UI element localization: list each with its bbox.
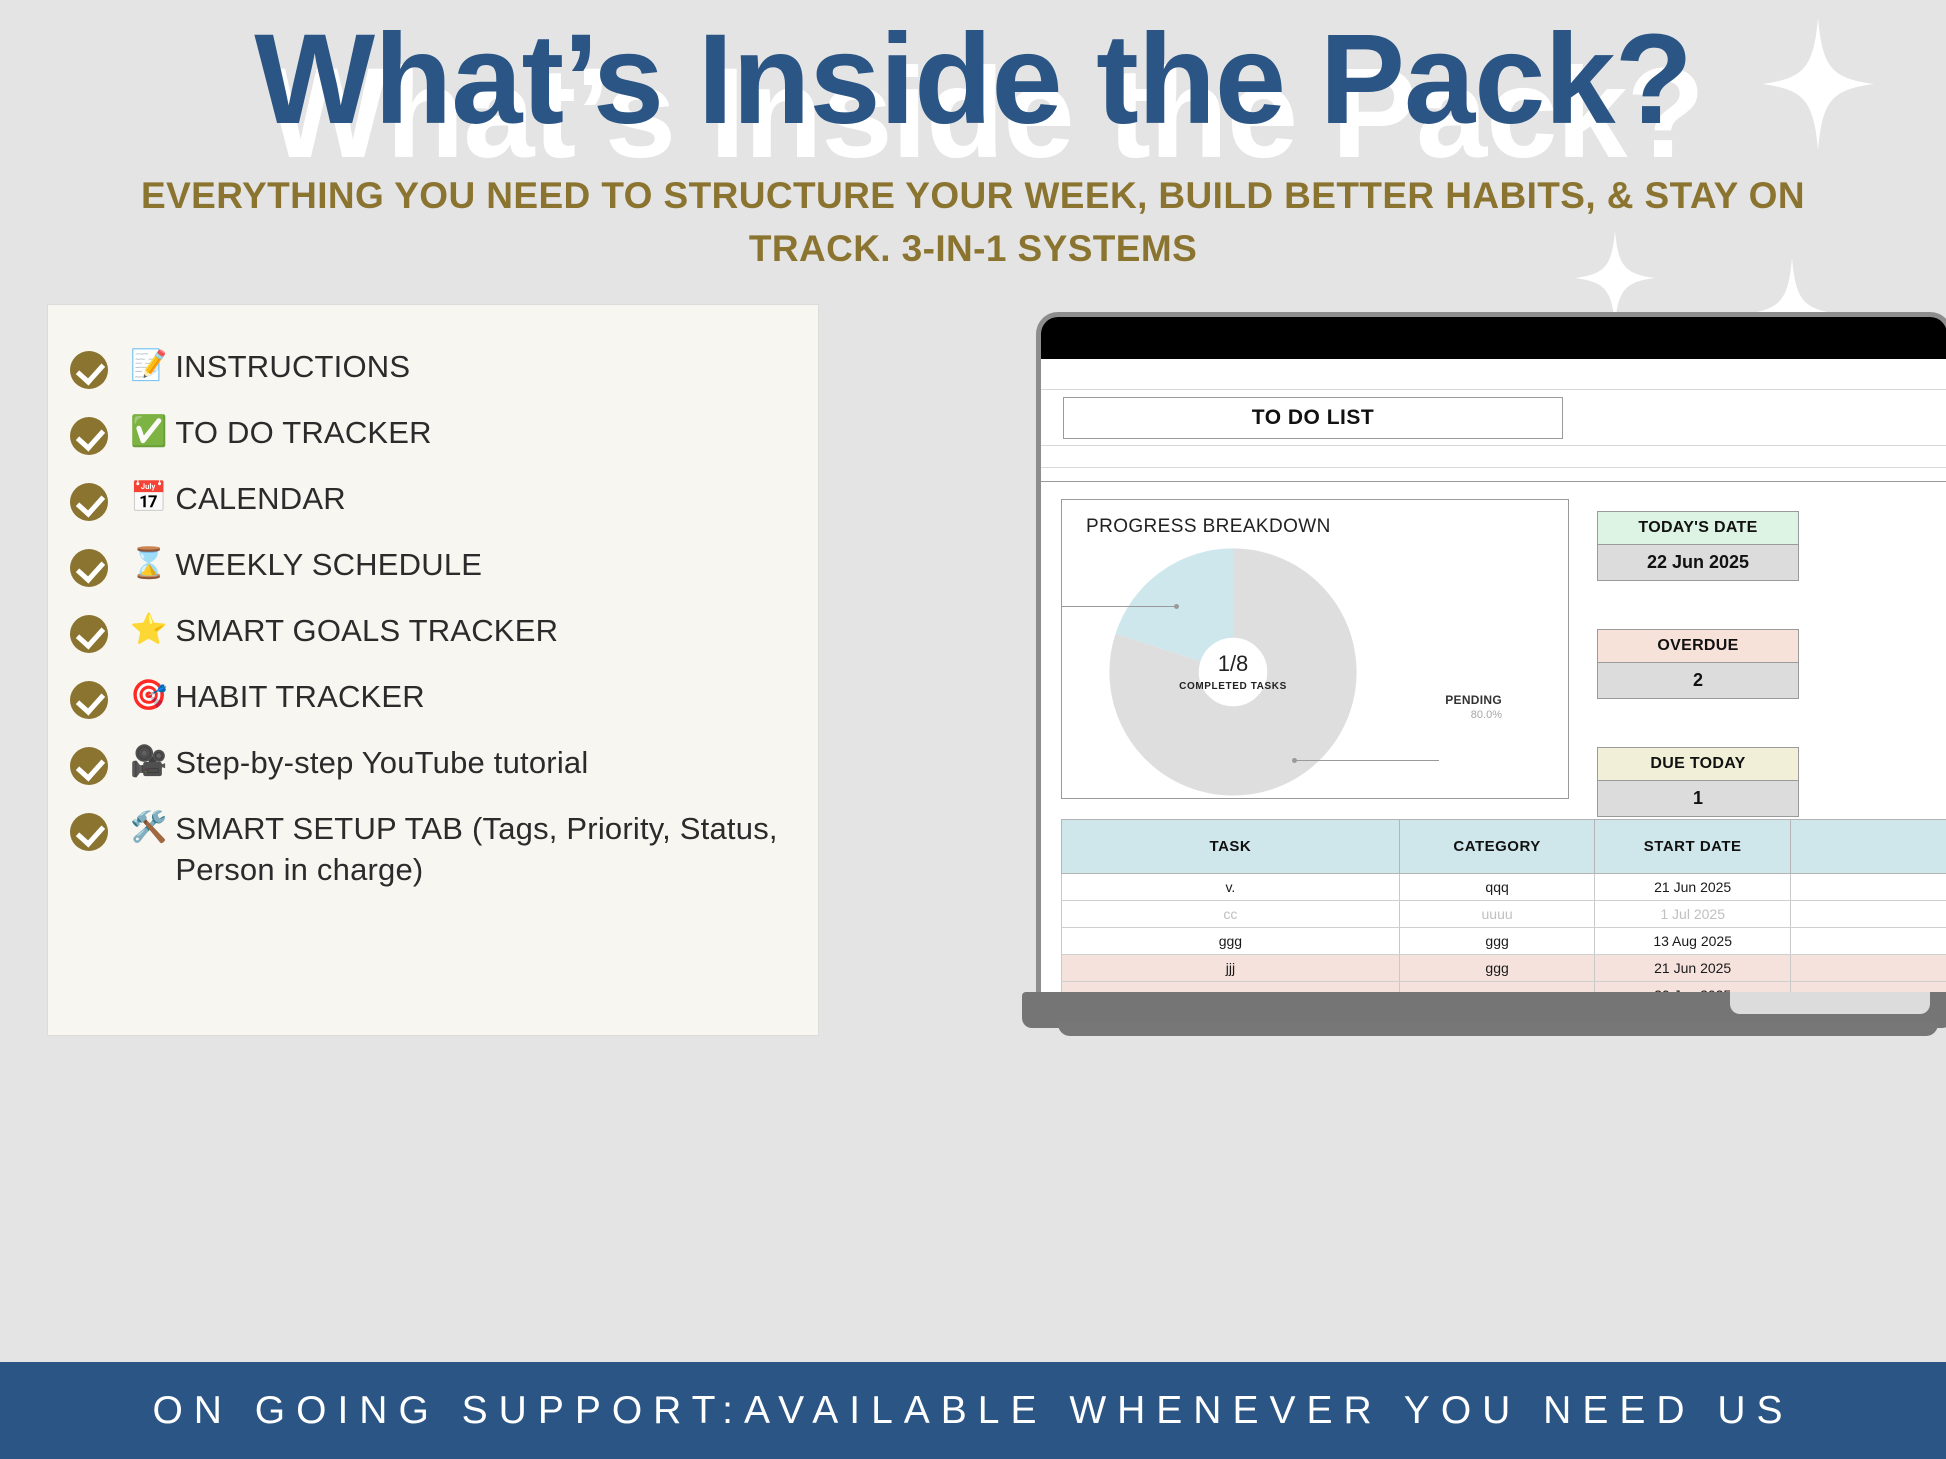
table-cell-task[interactable]: ggg xyxy=(1062,928,1400,955)
feature-item: ⌛WEEKLY SCHEDULE xyxy=(70,545,818,587)
grid-line xyxy=(1036,481,1946,482)
laptop-mockup: TO DO LIST PROGRESS BREAKDOWN 1/8 xyxy=(1022,312,1946,1042)
memo-icon: 📝 xyxy=(130,347,167,385)
grid-line xyxy=(1036,389,1946,390)
kpi-card-todays-date: TODAY'S DATE 22 Jun 2025 xyxy=(1597,511,1799,581)
table-body: v.qqq21 Jun 2025ccuuuu1 Jul 2025gggggg13… xyxy=(1062,874,1946,995)
page-title: What’s Inside the Pack? xyxy=(0,0,1946,144)
feature-item: 🎯HABIT TRACKER xyxy=(70,677,818,719)
table-header-row: TASKCATEGORYSTART DATE xyxy=(1062,820,1946,874)
chart-title: PROGRESS BREAKDOWN xyxy=(1086,516,1331,538)
feature-item: ✅TO DO TRACKER xyxy=(70,413,818,455)
sheet-title: TO DO LIST xyxy=(1252,406,1374,430)
task-table: TASKCATEGORYSTART DATE v.qqq21 Jun 2025c… xyxy=(1061,819,1946,994)
check-circle-icon xyxy=(70,813,108,851)
check-circle-icon xyxy=(70,681,108,719)
laptop-screen: TO DO LIST PROGRESS BREAKDOWN 1/8 xyxy=(1036,359,1946,994)
table-cell-extra[interactable] xyxy=(1790,901,1946,928)
table-cell-extra[interactable] xyxy=(1790,874,1946,901)
laptop-foot xyxy=(1058,1022,1938,1036)
table-column-header[interactable]: TASK xyxy=(1062,820,1400,874)
pending-percent: 80.0% xyxy=(1392,709,1502,721)
laptop-lid: TO DO LIST PROGRESS BREAKDOWN 1/8 xyxy=(1036,312,1946,994)
table-column-header[interactable]: START DATE xyxy=(1595,820,1791,874)
table-cell-task[interactable]: jjj xyxy=(1062,955,1400,982)
table-cell-task[interactable]: v. xyxy=(1062,874,1400,901)
sheet-title-cell[interactable]: TO DO LIST xyxy=(1063,397,1563,439)
kpi-card-due-today: DUE TODAY 1 xyxy=(1597,747,1799,817)
feature-item-label: INSTRUCTIONS xyxy=(175,347,410,388)
header: What’s Inside the Pack? EVERYTHING YOU N… xyxy=(0,0,1946,275)
feature-item-label: HABIT TRACKER xyxy=(175,677,425,718)
kpi-card-overdue: OVERDUE 2 xyxy=(1597,629,1799,699)
grid-line xyxy=(1036,467,1946,468)
table-cell-start[interactable]: 21 Jun 2025 xyxy=(1595,874,1791,901)
table-cell-category[interactable]: uuuu xyxy=(1399,901,1595,928)
laptop-base-notch xyxy=(1730,992,1930,1014)
check-circle-icon xyxy=(70,483,108,521)
check-circle-icon xyxy=(70,615,108,653)
direct-hit-icon: 🎯 xyxy=(130,677,167,715)
table-cell-start[interactable]: 21 Jun 2025 xyxy=(1595,955,1791,982)
check-mark-button-icon: ✅ xyxy=(130,413,167,451)
callout-dot-completed xyxy=(1174,604,1179,609)
kpi-label: OVERDUE xyxy=(1597,629,1799,663)
callout-dot-pending xyxy=(1292,758,1297,763)
table-cell-category[interactable]: qqq xyxy=(1399,874,1595,901)
feature-item-label: Step-by-step YouTube tutorial xyxy=(175,743,588,784)
table-cell-extra[interactable] xyxy=(1790,955,1946,982)
progress-chart-panel: PROGRESS BREAKDOWN 1/8 COMPLETED TASKS xyxy=(1061,499,1569,799)
table-cell-task[interactable]: cc xyxy=(1062,901,1400,928)
kpi-value: 2 xyxy=(1597,663,1799,699)
feature-item-label: TO DO TRACKER xyxy=(175,413,431,454)
table-row[interactable]: jjjggg21 Jun 2025 xyxy=(1062,955,1946,982)
callout-line-completed xyxy=(1062,606,1177,607)
kpi-value: 22 Jun 2025 xyxy=(1597,545,1799,581)
calendar-icon: 📅 xyxy=(130,479,167,517)
donut-segment-completed xyxy=(1154,593,1312,751)
movie-camera-icon: 🎥 xyxy=(130,743,167,781)
pending-callout-label: PENDING 80.0% xyxy=(1392,693,1502,721)
table-cell-category[interactable]: ggg xyxy=(1399,928,1595,955)
page-subtitle: EVERYTHING YOU NEED TO STRUCTURE YOUR WE… xyxy=(0,170,1946,275)
table-row[interactable]: v.qqq21 Jun 2025 xyxy=(1062,874,1946,901)
kpi-label: DUE TODAY xyxy=(1597,747,1799,781)
donut-svg xyxy=(1108,548,1358,796)
feature-item-label: SMART SETUP TAB (Tags, Priority, Status,… xyxy=(175,809,804,891)
spreadsheet: TO DO LIST PROGRESS BREAKDOWN 1/8 xyxy=(1036,359,1946,994)
hourglass-icon: ⌛ xyxy=(130,545,167,583)
feature-item: ⭐SMART GOALS TRACKER xyxy=(70,611,818,653)
hammer-and-wrench-icon: 🛠️ xyxy=(130,809,167,847)
footer-text: ON GOING SUPPORT:AVAILABLE WHENEVER YOU … xyxy=(152,1389,1793,1433)
feature-item-label: CALENDAR xyxy=(175,479,345,520)
table-cell-category[interactable]: ggg xyxy=(1399,955,1595,982)
check-circle-icon xyxy=(70,417,108,455)
kpi-label: TODAY'S DATE xyxy=(1597,511,1799,545)
pending-name: PENDING xyxy=(1392,693,1502,707)
check-circle-icon xyxy=(70,351,108,389)
kpi-value: 1 xyxy=(1597,781,1799,817)
table-cell-extra[interactable] xyxy=(1790,928,1946,955)
table-cell-start[interactable]: 13 Aug 2025 xyxy=(1595,928,1791,955)
feature-item: 🎥Step-by-step YouTube tutorial xyxy=(70,743,818,785)
table-column-header[interactable] xyxy=(1790,820,1946,874)
table-cell-start[interactable]: 1 Jul 2025 xyxy=(1595,901,1791,928)
feature-list: 📝INSTRUCTIONS✅TO DO TRACKER📅CALENDAR⌛WEE… xyxy=(48,305,818,891)
feature-item: 🛠️SMART SETUP TAB (Tags, Priority, Statu… xyxy=(70,809,818,891)
table-row[interactable]: gggggg13 Aug 2025 xyxy=(1062,928,1946,955)
table-column-header[interactable]: CATEGORY xyxy=(1399,820,1595,874)
feature-item: 📅CALENDAR xyxy=(70,479,818,521)
feature-card: 📝INSTRUCTIONS✅TO DO TRACKER📅CALENDAR⌛WEE… xyxy=(48,305,818,1035)
check-circle-icon xyxy=(70,747,108,785)
feature-item: 📝INSTRUCTIONS xyxy=(70,347,818,389)
check-circle-icon xyxy=(70,549,108,587)
callout-line-pending xyxy=(1294,760,1439,761)
feature-item-label: WEEKLY SCHEDULE xyxy=(175,545,482,586)
feature-item-label: SMART GOALS TRACKER xyxy=(175,611,558,652)
star-icon: ⭐ xyxy=(130,611,167,649)
progress-donut-chart: 1/8 COMPLETED TASKS xyxy=(1108,548,1358,796)
footer-banner: ON GOING SUPPORT:AVAILABLE WHENEVER YOU … xyxy=(0,1362,1946,1459)
grid-line xyxy=(1036,445,1946,446)
table-row[interactable]: ccuuuu1 Jul 2025 xyxy=(1062,901,1946,928)
